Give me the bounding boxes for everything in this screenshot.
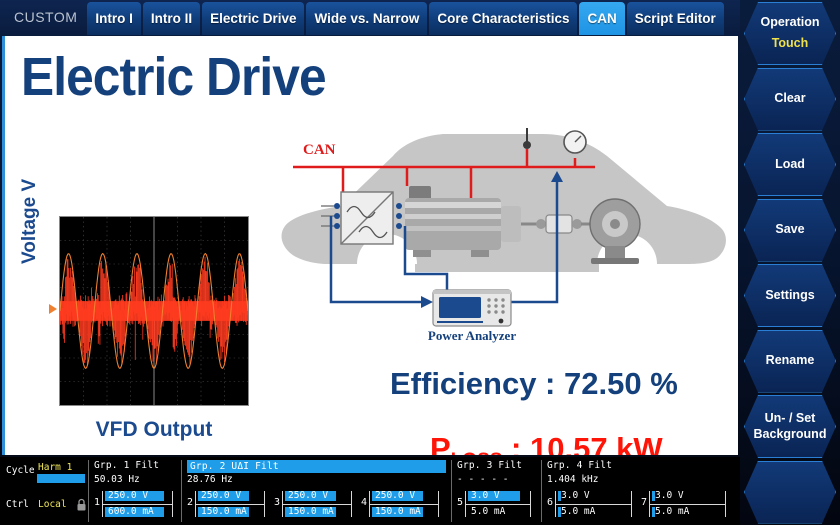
cycle-progress-bar — [37, 474, 85, 483]
power-loss-separator: : — [502, 431, 530, 455]
channel-6[interactable]: 63.0 V5.0 mA — [547, 489, 637, 519]
range-value-text: 250.0 V — [288, 490, 328, 501]
softkey-sublabel: Touch — [772, 36, 809, 52]
status-group-1: Grp. 1 Filt50.03 Hz1250.0 V600.0 mA — [92, 457, 182, 525]
lock-icon[interactable] — [76, 498, 87, 511]
channel-number: 5 — [457, 497, 463, 508]
group-divider — [181, 460, 182, 522]
status-bar: Cycle Harm 1 Ctrl Local Grp. 1 Filt50.03… — [0, 457, 740, 525]
group-frequency-value: - - - - - — [457, 474, 508, 485]
softkey-load[interactable]: Load — [744, 133, 836, 196]
tab-wide-vs-narrow[interactable]: Wide vs. Narrow — [306, 2, 427, 35]
scope-y-axis-label: Voltage V — [19, 179, 41, 264]
status-cycle-column: Cycle Harm 1 Ctrl Local — [4, 457, 88, 525]
range-value-text: 250.0 V — [201, 490, 241, 501]
tab-script-editor[interactable]: Script Editor — [627, 2, 724, 35]
softkey-label: Rename — [766, 353, 815, 369]
gauge-icon — [564, 131, 586, 153]
power-loss-readout: PLOSS : 10.57 kW — [430, 431, 663, 455]
soft-key-sidebar: OperationTouchClearLoadSaveSettingsRenam… — [744, 2, 838, 523]
car-underbody — [415, 264, 599, 272]
channel-voltage-range: 250.0 V — [105, 490, 177, 502]
group-divider — [451, 460, 452, 522]
oscilloscope-panel: Voltage V — [23, 206, 263, 455]
device-screen: CUSTOM Intro IIntro IIElectric DriveWide… — [0, 0, 840, 525]
softkey-rename[interactable]: Rename — [744, 330, 836, 393]
range-value-text: 3.0 V — [561, 490, 590, 501]
efficiency-value: 72.50 % — [564, 366, 678, 401]
power-loss-value: 10.57 kW — [530, 431, 663, 455]
channel-range-line — [195, 504, 264, 505]
channel-current-range: 150.0 mA — [198, 506, 269, 518]
channel-range-line — [282, 504, 351, 505]
channel-current-range: 5.0 mA — [468, 506, 535, 518]
range-value-text: 150.0 mA — [201, 506, 247, 517]
status-group-3: Grp. 3 Filt- - - - -53.0 V5.0 mA — [455, 457, 540, 525]
softkey-label: Save — [775, 222, 804, 238]
range-value-text: 150.0 mA — [288, 506, 334, 517]
channel-current-range: 150.0 mA — [285, 506, 356, 518]
group-divider — [541, 460, 542, 522]
softkey-label: Load — [775, 157, 805, 173]
channel-7[interactable]: 73.0 V5.0 mA — [641, 489, 731, 519]
channel-range-line — [555, 504, 631, 505]
channel-number: 7 — [641, 497, 647, 508]
range-value-text: 3.0 V — [471, 490, 500, 501]
channel-3[interactable]: 3250.0 V150.0 mA — [274, 489, 357, 519]
channel-1[interactable]: 1250.0 V600.0 mA — [94, 489, 178, 519]
range-value-text: 5.0 mA — [655, 506, 689, 517]
softkey-clear[interactable]: Clear — [744, 68, 836, 131]
content-area: Electric Drive CAN — [2, 36, 738, 455]
group-header[interactable]: Grp. 3 Filt — [457, 460, 522, 471]
channel-voltage-range: 250.0 V — [198, 490, 269, 502]
power-analyzer-label: Power Analyzer — [428, 328, 516, 343]
group-frequency-value: 1.404 kHz — [547, 474, 598, 485]
scope-caption: VFD Output — [59, 418, 249, 442]
channel-number: 1 — [94, 497, 100, 508]
page-title: Electric Drive — [21, 46, 326, 108]
channel-voltage-range: 3.0 V — [468, 490, 535, 502]
channel-number: 2 — [187, 497, 193, 508]
softkey-un-set-background[interactable]: Un- / SetBackground — [744, 395, 836, 458]
channel-number: 4 — [361, 497, 367, 508]
channel-range-line — [465, 504, 530, 505]
range-value-text: 250.0 V — [375, 490, 415, 501]
tab-can[interactable]: CAN — [579, 2, 624, 35]
channel-5[interactable]: 53.0 V5.0 mA — [457, 489, 536, 519]
softkey-label: Clear — [774, 91, 805, 107]
channel-range-line — [369, 504, 438, 505]
cycle-label: Cycle — [6, 465, 35, 476]
can-label: CAN — [303, 142, 336, 158]
inverter-icon — [341, 192, 393, 244]
efficiency-label: Efficiency : — [390, 366, 564, 401]
status-group-4: Grp. 4 Filt1.404 kHz63.0 V5.0 mA73.0 V5.… — [545, 457, 735, 525]
channel-number: 3 — [274, 497, 280, 508]
tab-list: Intro IIntro IIElectric DriveWide vs. Na… — [87, 0, 725, 35]
range-value-text: 150.0 mA — [375, 506, 421, 517]
cycle-value[interactable]: Harm 1 — [38, 462, 72, 473]
power-analyzer-icon — [433, 290, 511, 326]
softkey-empty-7[interactable] — [744, 461, 836, 524]
range-value-text: 3.0 V — [655, 490, 684, 501]
tab-electric-drive[interactable]: Electric Drive — [202, 2, 304, 35]
softkey-label: Un- / SetBackground — [754, 411, 827, 442]
range-value-text: 250.0 V — [108, 490, 148, 501]
channel-voltage-range: 250.0 V — [372, 490, 443, 502]
tab-bar: CUSTOM Intro IIntro IIElectric DriveWide… — [0, 0, 740, 36]
softkey-settings[interactable]: Settings — [744, 264, 836, 327]
channel-current-range: 600.0 mA — [105, 506, 177, 518]
channel-4[interactable]: 4250.0 V150.0 mA — [361, 489, 444, 519]
trigger-level-marker — [49, 304, 57, 314]
channel-number: 6 — [547, 497, 553, 508]
status-group-2: Grp. 2 UΔI Filt28.76 Hz2250.0 V150.0 mA3… — [185, 457, 450, 525]
softkey-label: Operation — [760, 15, 819, 31]
softkey-label: Settings — [765, 288, 814, 304]
custom-label: CUSTOM — [0, 0, 87, 36]
group-frequency-value: 50.03 Hz — [94, 474, 140, 485]
power-loss-symbol: P — [430, 431, 451, 455]
channel-voltage-range: 3.0 V — [652, 490, 730, 502]
group-header[interactable]: Grp. 4 Filt — [547, 460, 612, 471]
channel-current-range: 150.0 mA — [372, 506, 443, 518]
range-value-text: 600.0 mA — [108, 506, 154, 517]
scope-waveform-display[interactable] — [59, 216, 249, 406]
tab-intro-ii[interactable]: Intro II — [143, 2, 200, 35]
softkey-save[interactable]: Save — [744, 199, 836, 262]
channel-current-range: 5.0 mA — [558, 506, 636, 518]
efficiency-readout: Efficiency : 72.50 % — [390, 366, 678, 402]
channel-voltage-range: 250.0 V — [285, 490, 356, 502]
power-loss-subscript: LOSS — [451, 450, 503, 455]
ctrl-value[interactable]: Local — [38, 499, 67, 510]
channel-voltage-range: 3.0 V — [558, 490, 636, 502]
channel-range-line — [102, 504, 172, 505]
tab-intro-i[interactable]: Intro I — [87, 2, 141, 35]
range-value-text: 5.0 mA — [471, 506, 505, 517]
group-header[interactable]: Grp. 1 Filt — [94, 460, 159, 471]
range-value-text: 5.0 mA — [561, 506, 595, 517]
softkey-operation[interactable]: OperationTouch — [744, 2, 836, 65]
channel-2[interactable]: 2250.0 V150.0 mA — [187, 489, 270, 519]
group-divider — [88, 460, 89, 522]
powertrain-diagram: CAN — [275, 114, 735, 349]
ctrl-label: Ctrl — [6, 499, 29, 510]
channel-current-range: 5.0 mA — [652, 506, 730, 518]
group-header[interactable]: Grp. 2 UΔI Filt — [187, 460, 446, 473]
group-frequency-value: 28.76 Hz — [187, 474, 233, 485]
channel-range-line — [649, 504, 725, 505]
tab-core-characteristics[interactable]: Core Characteristics — [429, 2, 577, 35]
